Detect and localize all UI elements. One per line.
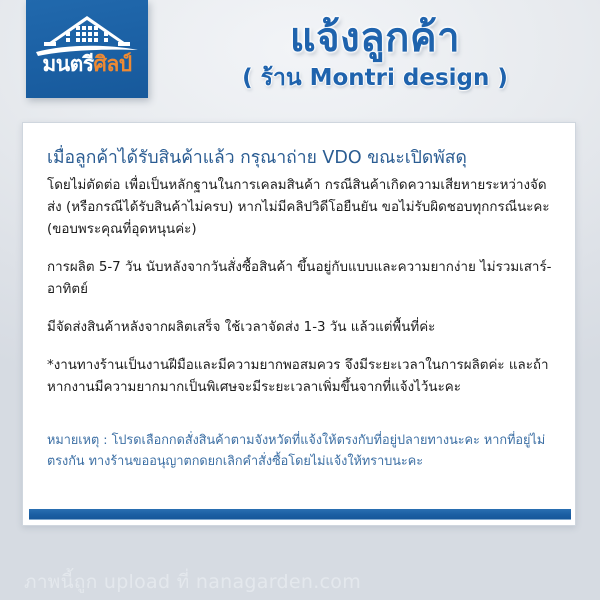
paragraph-remark: หมายเหตุ : โปรดเลือกกดสั่งสินค้าตามจังหว… [47,429,553,471]
notice-card-body: เมื่อลูกค้าได้รับสินค้าแล้ว กรุณาถ่าย VD… [23,123,577,471]
announcement-image: มนตรีศิลป์ แจ้งลูกค้า ( ร้าน Montri desi… [0,0,600,600]
title-block: แจ้งลูกค้า ( ร้าน Montri design ) [160,14,590,92]
header: มนตรีศิลป์ แจ้งลูกค้า ( ร้าน Montri desi… [0,0,600,120]
page-title: แจ้งลูกค้า [160,14,590,62]
logo-wordmark: มนตรีศิลป์ [26,52,148,76]
paragraph-shipping-time: มีจัดส่งสินค้าหลังจากผลิตเสร็จ ใช้เวลาจั… [47,317,553,339]
logo-word-primary: มนตรี [42,52,93,76]
brand-logo: มนตรีศิลป์ [26,0,148,98]
house-roof-icon [26,0,148,98]
notice-card: เมื่อลูกค้าได้รับสินค้าแล้ว กรุณาถ่าย VD… [22,122,576,526]
logo-word-accent: ศิลป์ [94,52,132,76]
page-subtitle: ( ร้าน Montri design ) [160,64,590,92]
notice-lead: เมื่อลูกค้าได้รับสินค้าแล้ว กรุณาถ่าย VD… [47,145,553,171]
paragraph-production-time: การผลิต 5-7 วัน นับหลังจากวันสั่งซื้อสิน… [47,257,553,301]
paragraph-claim-policy: โดยไม่ตัดต่อ เพื่อเป็นหลักฐานในการเคลมสิ… [47,175,553,241]
card-accent-bar [29,509,571,520]
upload-watermark: ภาพนี้ถูก upload ที่ nanagarden.com [24,567,361,597]
paragraph-handmade-note: *งานทางร้านเป็นงานฝีมือและมีความยากพอสมค… [47,355,553,399]
